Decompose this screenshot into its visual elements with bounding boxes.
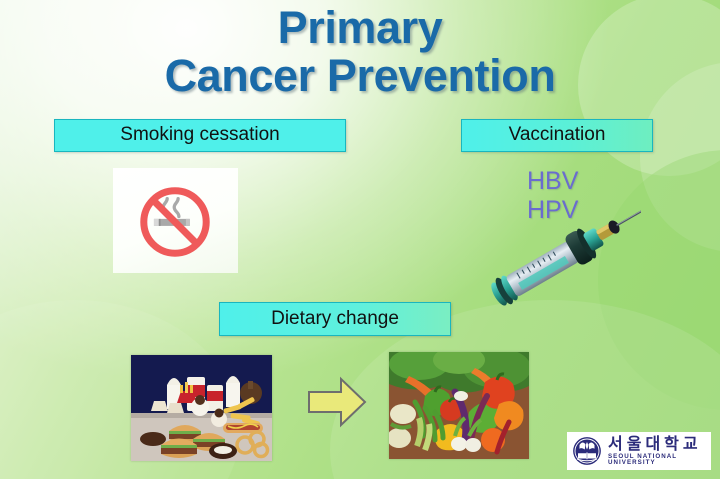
title-line-1: Primary (0, 4, 720, 52)
vegetables-photo (389, 352, 529, 459)
slide-title: Primary Cancer Prevention (0, 4, 720, 100)
slide-canvas: Primary Cancer Prevention Smoking cessat… (0, 0, 720, 479)
title-line-2: Cancer Prevention (0, 52, 720, 100)
caption-vaccination: Vaccination (461, 119, 653, 152)
junk-food-photo (131, 355, 272, 461)
snu-logo-text: 서울대학교 SEOUL NATIONAL UNIVERSITY (608, 436, 711, 466)
seoul-national-university-logo: 서울대학교 SEOUL NATIONAL UNIVERSITY (567, 432, 711, 470)
snu-emblem-icon (572, 436, 602, 466)
no-smoking-icon (136, 183, 214, 261)
no-smoking-image-panel (113, 168, 238, 273)
vegetables-illustration (389, 352, 529, 459)
junk-food-illustration (131, 355, 272, 461)
syringe-icon (476, 210, 641, 310)
caption-dietary-change: Dietary change (219, 302, 451, 336)
vaccine-item-hbv: HBV (527, 167, 578, 196)
snu-name-english: SEOUL NATIONAL UNIVERSITY (608, 454, 711, 466)
caption-smoking-cessation: Smoking cessation (54, 119, 346, 152)
right-arrow-icon (305, 375, 369, 429)
snu-name-korean: 서울대학교 (608, 436, 711, 452)
